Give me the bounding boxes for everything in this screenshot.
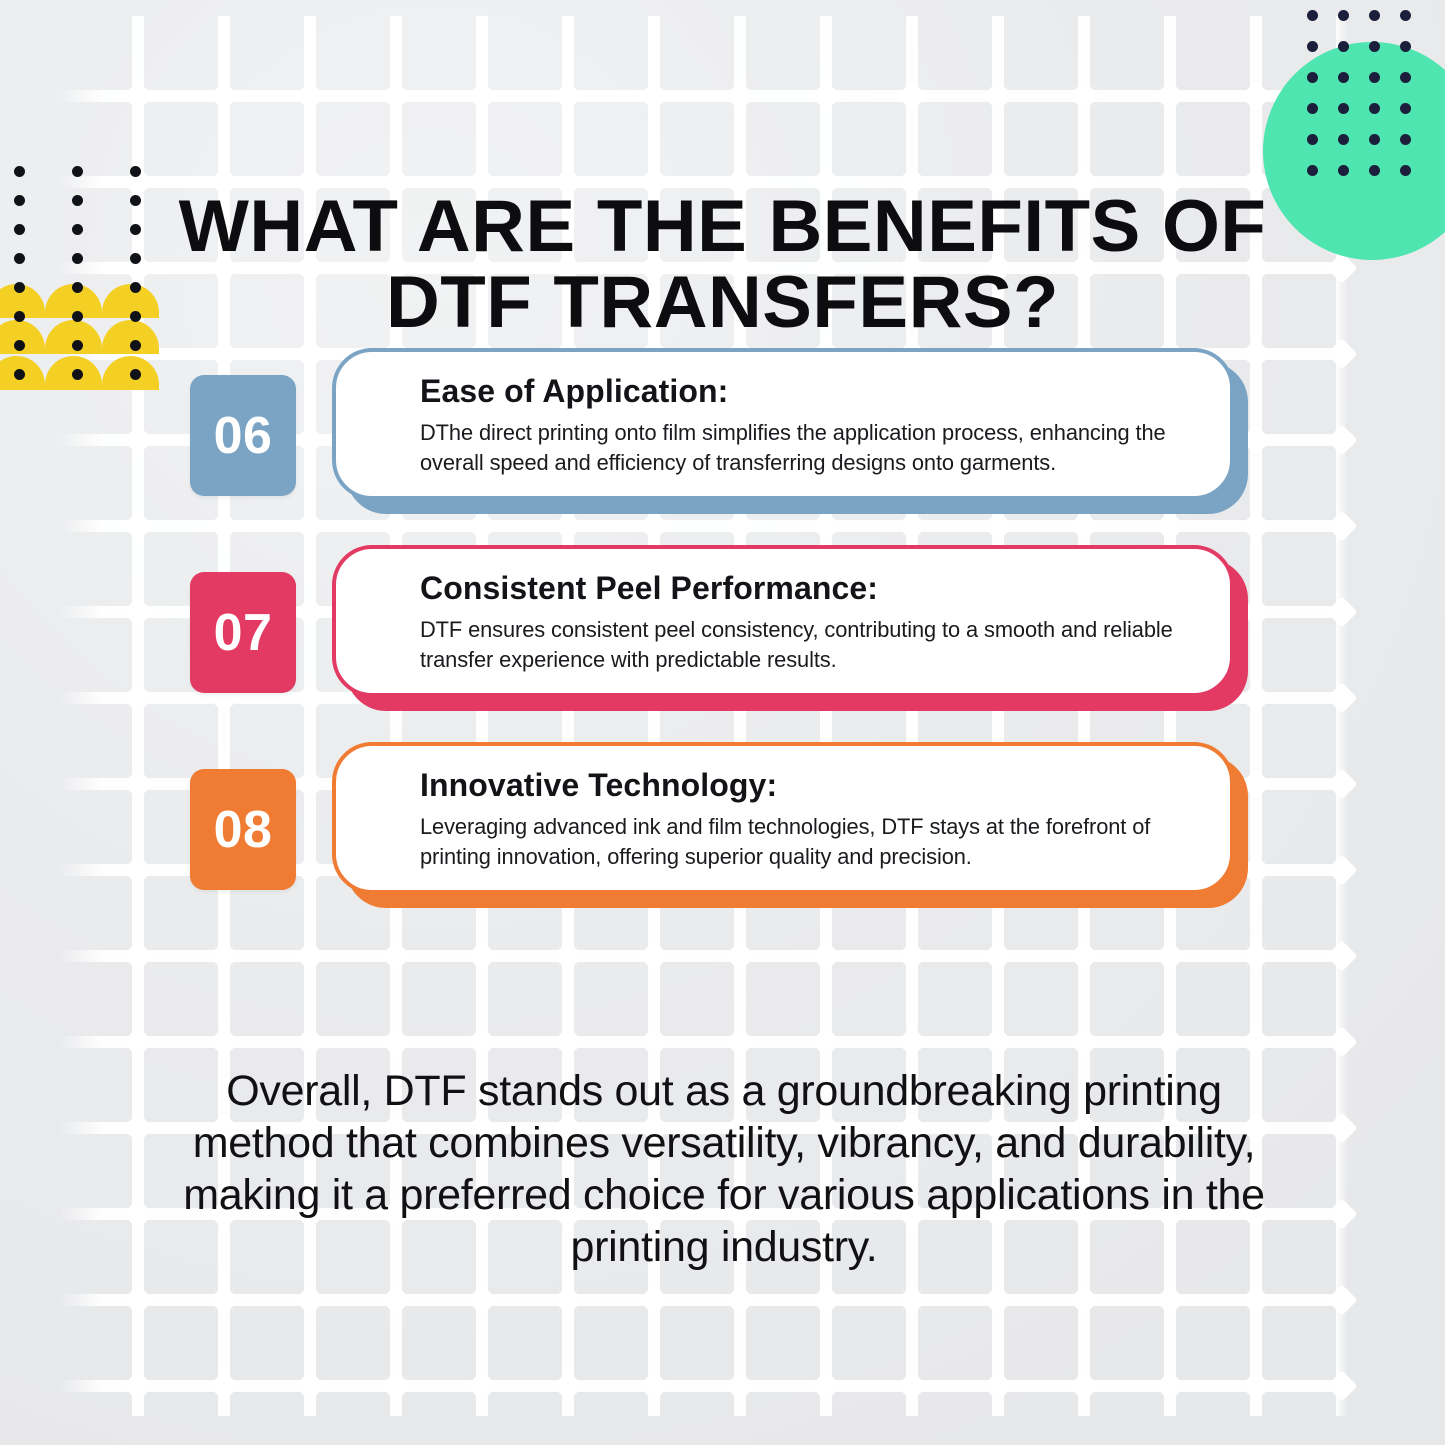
decorative-dot [14, 253, 25, 264]
grid-diamond [982, 1026, 1013, 1057]
grid-diamond [466, 1370, 497, 1401]
decorative-dot [72, 282, 83, 293]
grid-diamond [896, 80, 927, 111]
grid-diamond [1068, 1026, 1099, 1057]
grid-diamond [1326, 1284, 1357, 1315]
grid-diamond [638, 1370, 669, 1401]
grid-diamond [380, 940, 411, 971]
grid-diamond [294, 1284, 325, 1315]
decorative-dot [1369, 10, 1380, 21]
grid-diamond [982, 1284, 1013, 1315]
decorative-dot [130, 253, 141, 264]
grid-diamond [1326, 1112, 1357, 1143]
grid-diamond [380, 1370, 411, 1401]
grid-diamond [724, 1026, 755, 1057]
grid-diamond [1068, 1284, 1099, 1315]
benefit-card-row: 08 Innovative Technology: Leveraging adv… [0, 742, 1445, 917]
grid-diamond [294, 80, 325, 111]
grid-diamond [1240, 940, 1271, 971]
grid-diamond [208, 1370, 239, 1401]
grid-diamond [552, 1284, 583, 1315]
grid-diamond [466, 940, 497, 971]
halfdome-shape [0, 284, 45, 318]
grid-diamond [122, 1284, 153, 1315]
card-body-text: DTF ensures consistent peel consistency,… [420, 615, 1177, 675]
grid-diamond [810, 80, 841, 111]
card-wrapper: 08 Innovative Technology: Leveraging adv… [0, 742, 1445, 917]
grid-diamond [724, 1284, 755, 1315]
grid-diamond [1240, 80, 1271, 111]
benefit-card[interactable]: Consistent Peel Performance: DTF ensures… [332, 545, 1234, 697]
grid-diamond [1240, 1284, 1271, 1315]
grid-diamond [724, 1370, 755, 1401]
benefit-card[interactable]: Ease of Application: DThe direct printin… [332, 348, 1234, 500]
grid-diamond [810, 1026, 841, 1057]
grid-diamond [1154, 1026, 1185, 1057]
grid-diamond [208, 1284, 239, 1315]
card-number-label: 08 [214, 800, 273, 860]
decorative-dot [130, 224, 141, 235]
grid-diamond [982, 1370, 1013, 1401]
grid-diamond [810, 1284, 841, 1315]
decorative-dot [130, 311, 141, 322]
grid-diamond [380, 1026, 411, 1057]
grid-diamond [982, 80, 1013, 111]
halfdome-shape [45, 284, 102, 318]
card-number-badge: 07 [190, 572, 296, 693]
grid-diamond [1326, 940, 1357, 971]
decorative-dot [14, 166, 25, 177]
grid-diamond [1154, 1284, 1185, 1315]
grid-diamond [552, 1370, 583, 1401]
card-title: Consistent Peel Performance: [420, 571, 1200, 605]
grid-diamond [466, 80, 497, 111]
grid-diamond [1326, 1198, 1357, 1229]
grid-diamond [552, 940, 583, 971]
grid-diamond [294, 1026, 325, 1057]
grid-diamond [638, 940, 669, 971]
decorative-dot [14, 224, 25, 235]
grid-diamond [294, 940, 325, 971]
benefit-card-row: 06 Ease of Application: DThe direct prin… [0, 348, 1445, 523]
decorative-dot [72, 311, 83, 322]
decorative-dot [130, 282, 141, 293]
grid-diamond [1326, 1370, 1357, 1401]
infographic-canvas: WHAT ARE THE BENEFITS OF DTF TRANSFERS? … [0, 0, 1445, 1445]
decorative-dot [72, 166, 83, 177]
card-number-label: 06 [214, 406, 273, 466]
card-number-badge: 08 [190, 769, 296, 890]
card-number-label: 07 [214, 603, 273, 663]
grid-diamond [552, 80, 583, 111]
grid-diamond [1326, 1026, 1357, 1057]
grid-diamond [380, 80, 411, 111]
page-title: WHAT ARE THE BENEFITS OF DTF TRANSFERS? [149, 189, 1297, 341]
grid-diamond [638, 80, 669, 111]
decorative-dot [1307, 41, 1318, 52]
decorative-dot [14, 195, 25, 206]
grid-diamond [896, 1370, 927, 1401]
grid-diamond [896, 940, 927, 971]
decorative-dot [72, 224, 83, 235]
grid-diamond [208, 80, 239, 111]
card-body-text: DThe direct printing onto film simplifie… [420, 418, 1177, 478]
card-number-badge: 06 [190, 375, 296, 496]
grid-diamond [466, 1284, 497, 1315]
grid-diamond [1154, 80, 1185, 111]
grid-diamond [122, 1112, 153, 1143]
grid-diamond [122, 940, 153, 971]
grid-diamond [810, 940, 841, 971]
grid-diamond [1240, 1026, 1271, 1057]
grid-diamond [1068, 940, 1099, 971]
decorative-dot [130, 166, 141, 177]
decorative-dot [1338, 10, 1349, 21]
grid-diamond [1240, 1370, 1271, 1401]
grid-diamond [896, 1026, 927, 1057]
grid-diamond [1154, 940, 1185, 971]
grid-diamond [724, 80, 755, 111]
grid-diamond [982, 940, 1013, 971]
grid-diamond [724, 940, 755, 971]
benefit-card-row: 07 Consistent Peel Performance: DTF ensu… [0, 545, 1445, 720]
grid-diamond [810, 1370, 841, 1401]
grid-diamond [466, 1026, 497, 1057]
grid-diamond [122, 1198, 153, 1229]
card-wrapper: 07 Consistent Peel Performance: DTF ensu… [0, 545, 1445, 720]
halfdome-row [0, 284, 160, 318]
decorative-dot [1400, 10, 1411, 21]
decorative-dot [72, 253, 83, 264]
grid-diamond [1068, 1370, 1099, 1401]
grid-diamond [1154, 1370, 1185, 1401]
conclusion-paragraph: Overall, DTF stands out as a groundbreak… [178, 1065, 1270, 1273]
grid-diamond [294, 1370, 325, 1401]
grid-diamond [896, 1284, 927, 1315]
grid-diamond [208, 940, 239, 971]
card-wrapper: 06 Ease of Application: DThe direct prin… [0, 348, 1445, 523]
card-title: Ease of Application: [420, 374, 1200, 408]
decorative-dot [14, 311, 25, 322]
decorative-dot [130, 195, 141, 206]
card-title: Innovative Technology: [420, 768, 1200, 802]
decorative-dot [14, 282, 25, 293]
card-body-text: Leveraging advanced ink and film technol… [420, 812, 1177, 872]
grid-diamond [122, 1370, 153, 1401]
grid-diamond [638, 1026, 669, 1057]
grid-diamond [122, 80, 153, 111]
grid-diamond [638, 1284, 669, 1315]
decorative-dot [1307, 10, 1318, 21]
grid-diamond [1068, 80, 1099, 111]
grid-diamond [380, 1284, 411, 1315]
grid-diamond [552, 1026, 583, 1057]
decorative-dot [72, 195, 83, 206]
grid-diamond [208, 1026, 239, 1057]
grid-diamond [122, 1026, 153, 1057]
benefit-card[interactable]: Innovative Technology: Leveraging advanc… [332, 742, 1234, 894]
